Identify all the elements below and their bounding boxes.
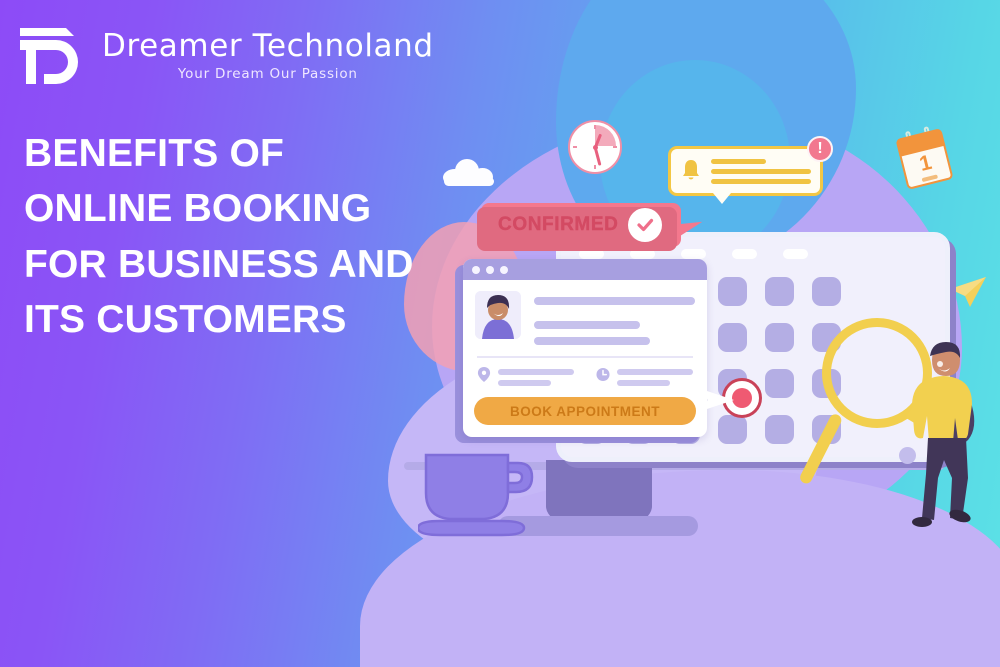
booking-card[interactable]: BOOK APPOINTMENT (463, 259, 707, 437)
calendar-icon: 1 (895, 128, 953, 190)
user-avatar (475, 291, 521, 339)
browser-titlebar (463, 259, 707, 280)
clock-icon (596, 367, 610, 382)
notification-lines (711, 159, 811, 184)
book-appointment-button[interactable]: BOOK APPOINTMENT (474, 397, 696, 425)
location-meta (477, 367, 574, 386)
person-with-magnifier (896, 338, 1000, 528)
brand-logo[interactable]: Dreamer Technoland Your Dream Our Passio… (14, 22, 434, 90)
bell-icon (680, 159, 702, 183)
cloud-icon (443, 159, 495, 185)
brand-name: Dreamer Technoland (102, 31, 434, 62)
notification-alert-badge: ! (807, 136, 833, 162)
card-text-lines (534, 291, 695, 345)
page-title: BENEFITS OF ONLINE BOOKING FOR BUSINESS … (24, 126, 424, 348)
time-meta (596, 367, 693, 386)
location-pin-icon (477, 367, 491, 382)
notification-card[interactable]: ! (668, 146, 823, 196)
confirmed-badge: CONFIRMED (481, 203, 681, 247)
coffee-cup-icon (418, 447, 543, 537)
wall-clock-icon (568, 120, 622, 174)
td-monogram-logo-icon (14, 22, 90, 90)
calendar-day-number: 1 (917, 152, 933, 175)
card-divider (477, 356, 693, 358)
brand-tagline: Your Dream Our Passion (178, 68, 358, 82)
confirmed-label: CONFIRMED (498, 214, 618, 236)
mouse-cursor-icon (690, 385, 736, 415)
